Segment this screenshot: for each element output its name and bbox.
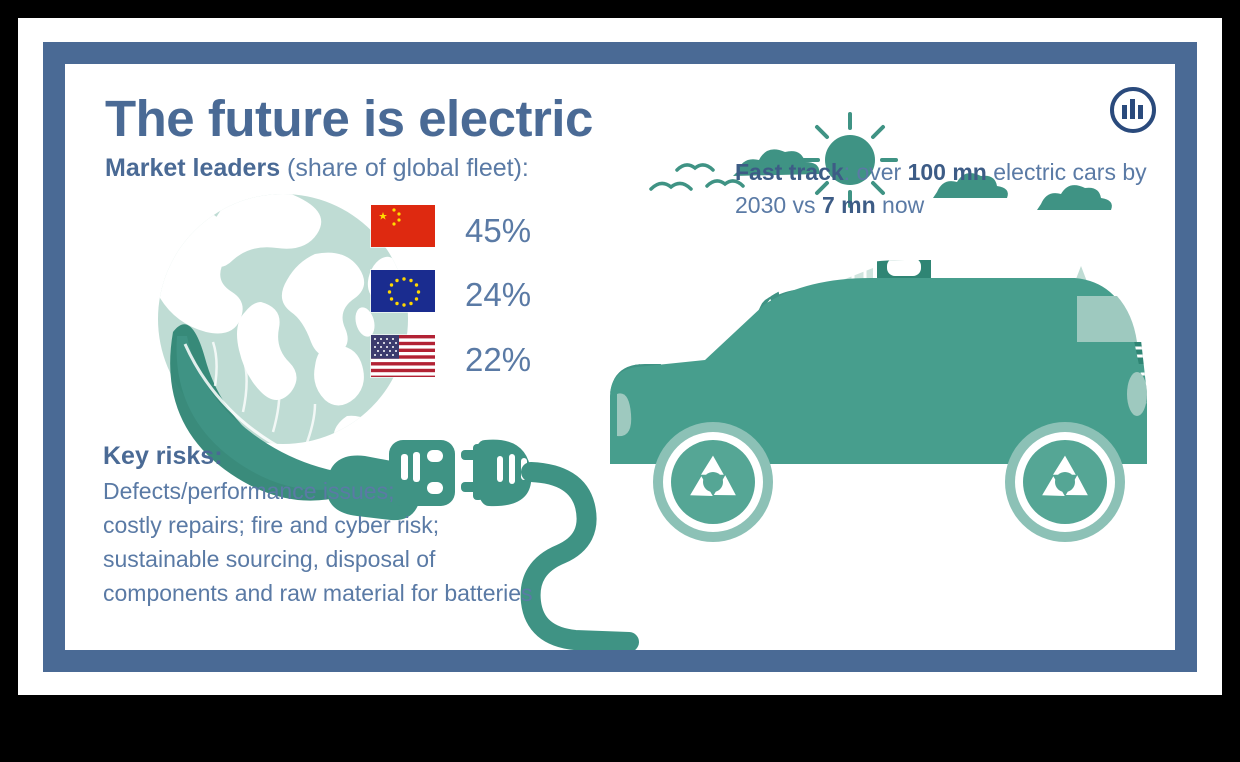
market-share-value-usa: 22% <box>465 341 531 379</box>
market-share-value-china: 45% <box>465 212 531 250</box>
fast-track-figure-2030: 100 mn <box>908 159 987 185</box>
recycle-wheel <box>1005 422 1125 542</box>
key-risks-line: costly repairs; fire and cyber risk; <box>103 508 663 542</box>
eu-flag <box>370 269 436 313</box>
page-title: The future is electric <box>105 89 593 148</box>
birds-icon <box>651 165 743 189</box>
usa-flag <box>370 334 436 378</box>
fast-track-part: : over <box>844 159 908 185</box>
china-flag <box>370 204 436 248</box>
key-risks-heading: Key risks: <box>103 442 663 471</box>
allianz-logo <box>1109 86 1157 134</box>
fast-track-part: now <box>876 192 925 218</box>
key-risks-block: Key risks: Defects/performance issues; c… <box>103 442 663 610</box>
key-risks-line: sustainable sourcing, disposal of <box>103 542 663 576</box>
recycle-wheel <box>653 422 773 542</box>
fast-track-figure-now: 7 mn <box>822 192 876 218</box>
fast-track-label: Fast track <box>735 159 844 185</box>
fast-track-text: Fast track: over 100 mn electric cars by… <box>735 156 1155 221</box>
market-leaders-label-rest: (share of global fleet): <box>280 154 529 182</box>
market-share-value-eu: 24% <box>465 276 531 314</box>
infographic-canvas: The future is electric Market leaders (s… <box>65 64 1175 650</box>
market-leaders-label: Market leaders (share of global fleet): <box>105 154 529 183</box>
screenshot-root: The future is electric Market leaders (s… <box>0 0 1240 762</box>
market-leaders-label-bold: Market leaders <box>105 154 280 182</box>
key-risks-line: components and raw material for batterie… <box>103 576 663 610</box>
key-risks-line: Defects/performance issues; <box>103 474 663 508</box>
electric-car <box>605 198 1149 542</box>
